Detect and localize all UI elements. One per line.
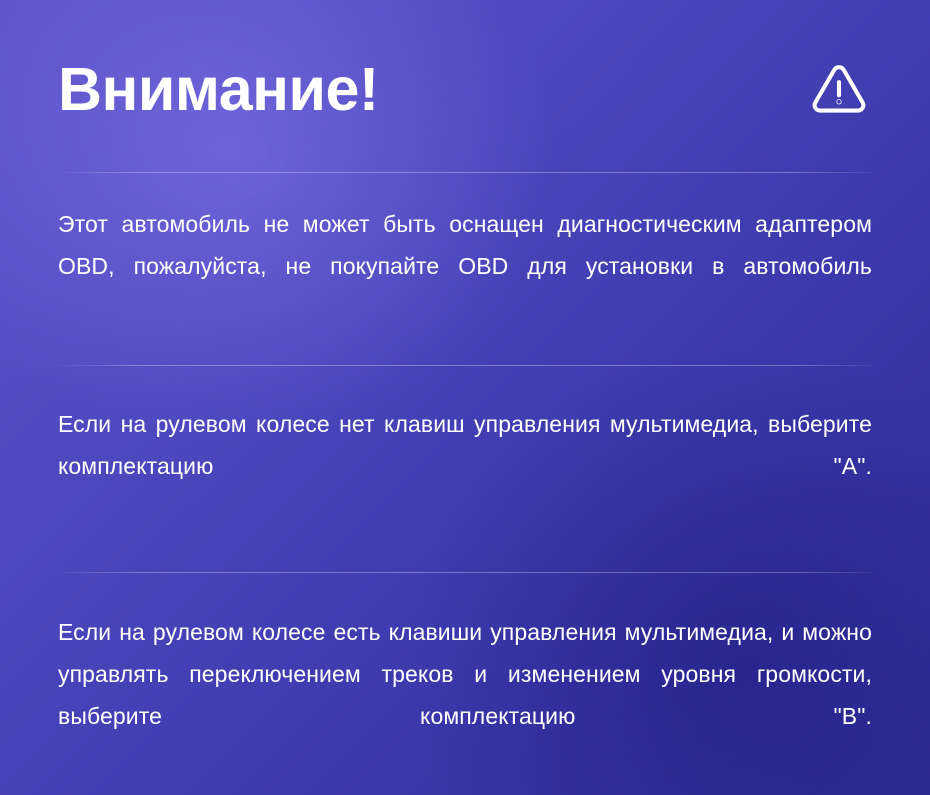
notice-block-2: Если на рулевом колесе нет клавиш управл… [58,366,872,572]
notice-block-1: Этот автомобиль не может быть оснащен ди… [58,173,872,365]
notice-block-3: Если на рулевом колесе есть клавиши упра… [58,573,872,779]
notice-text-steering-wheel-with-controls: Если на рулевом колесе есть клавиши упра… [58,611,872,779]
card-header: Внимание! [58,0,872,172]
page-title: Внимание! [58,53,379,120]
warning-notice-card: Внимание! Этот автомобиль не может быть … [0,0,930,795]
warning-triangle-icon [808,57,870,119]
notice-text-obd-adapter-unsupported: Этот автомобиль не может быть оснащен ди… [58,203,872,329]
notice-text-steering-wheel-no-controls: Если на рулевом колесе нет клавиш управл… [58,403,872,529]
